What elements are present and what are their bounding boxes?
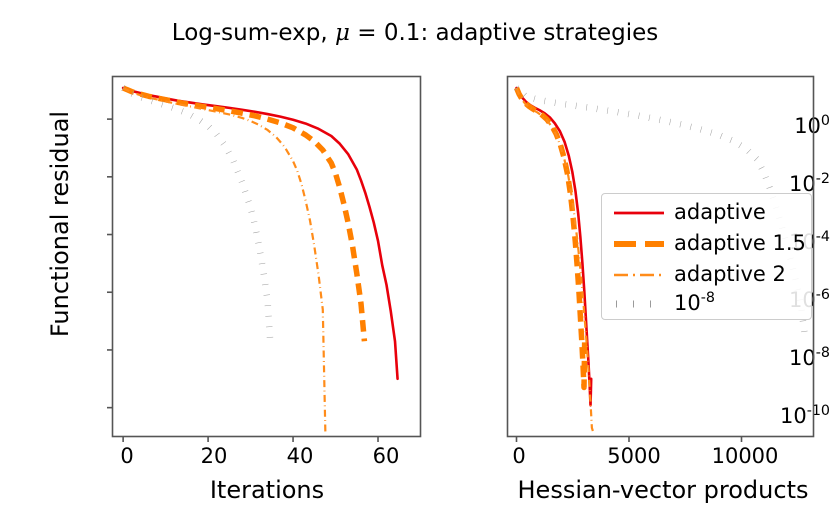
legend-label-adaptive: adaptive	[674, 200, 766, 224]
left-series-3	[123, 88, 270, 340]
legend-label-adaptive-2: adaptive 2	[674, 262, 786, 286]
figure-root: Log-sum-exp, μ = 0.1: adaptive strategie…	[0, 0, 830, 519]
legend-label-fixed-1e-8: 10-8	[674, 291, 715, 315]
legend-swatch-fixed-1e-8	[612, 289, 666, 319]
legend-entry-adaptive[interactable]: adaptive	[602, 198, 813, 228]
legend-entry-fixed-1e-8[interactable]: 10-8	[602, 289, 813, 319]
left-series-0	[123, 88, 397, 379]
right-series-1	[517, 88, 585, 388]
legend-entry-adaptive-2[interactable]: adaptive 2	[602, 260, 813, 290]
legend-swatch-adaptive-2	[612, 260, 666, 290]
left-series-2	[123, 88, 325, 431]
legend-entry-adaptive-1-5[interactable]: adaptive 1.5	[602, 229, 813, 259]
left-series-layer	[123, 88, 397, 431]
legend[interactable]: adaptive adaptive 1.5 adaptive 2 10-8	[601, 193, 812, 320]
legend-swatch-adaptive-1-5	[612, 229, 666, 259]
legend-label-adaptive-1-5: adaptive 1.5	[674, 231, 806, 255]
legend-swatch-adaptive	[612, 198, 666, 228]
left-series-1	[123, 88, 364, 341]
